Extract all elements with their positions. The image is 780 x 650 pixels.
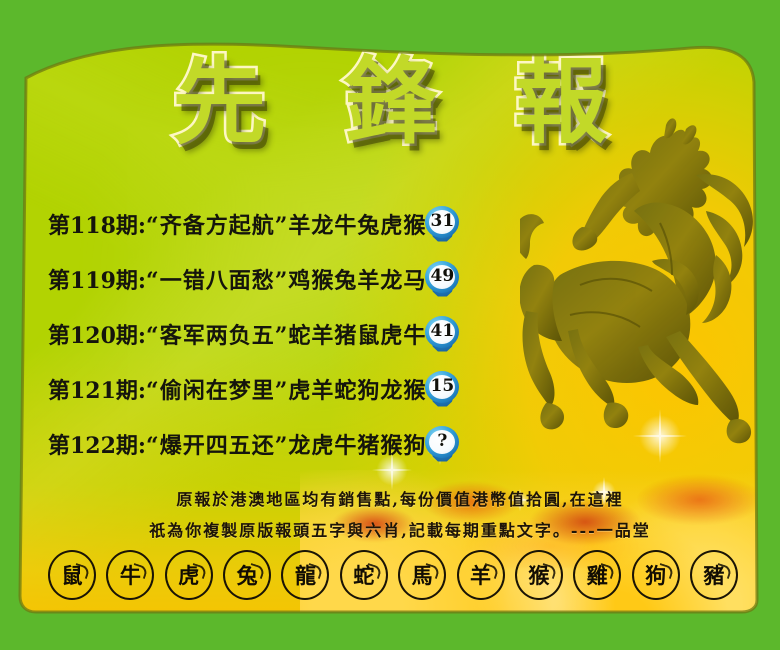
poster-inner-panel: 先 鋒 報 第118期: “齐备方起航” 羊龙牛兔虎猴 31 第119期: “一…: [0, 0, 780, 650]
zodiac-medal-monkey[interactable]: 猴: [515, 550, 563, 600]
issue-zodiacs: 羊龙牛兔虎猴: [288, 208, 426, 240]
ball-number: 41: [429, 320, 455, 344]
issue-zodiacs: 鸡猴兔羊龙马: [288, 263, 426, 295]
lottery-ball-icon[interactable]: ?: [425, 426, 459, 462]
issue-phrase: “一错八面愁”: [146, 263, 288, 295]
zodiac-medal-pig[interactable]: 豬: [690, 550, 738, 600]
page-title: 先 鋒 報: [0, 52, 780, 154]
ball-number: 15: [429, 375, 455, 399]
issue-row[interactable]: 第119期: “一错八面愁” 鸡猴兔羊龙马 49: [48, 251, 548, 306]
zodiac-medal-ox[interactable]: 牛: [106, 550, 154, 600]
issue-number-label: 第118期:: [48, 208, 146, 240]
lottery-ball-icon[interactable]: 49: [425, 261, 459, 297]
zodiac-medal-snake[interactable]: 蛇: [340, 550, 388, 600]
issue-zodiacs: 虎羊蛇狗龙猴: [288, 373, 426, 405]
issue-zodiacs: 蛇羊猪鼠虎牛: [288, 318, 426, 350]
issue-number-label: 第120期:: [48, 318, 146, 350]
zodiac-medal-goat[interactable]: 羊: [457, 550, 505, 600]
zodiac-medal-dog[interactable]: 狗: [632, 550, 680, 600]
zodiac-medal-tiger[interactable]: 虎: [165, 550, 213, 600]
issue-zodiacs: 龙虎牛猪猴狗: [288, 428, 426, 460]
zodiac-medal-rooster[interactable]: 雞: [573, 550, 621, 600]
issue-phrase: “齐备方起航”: [146, 208, 288, 240]
issue-phrase: “客军两负五”: [146, 318, 288, 350]
zodiac-medallion-row: 鼠 牛 虎 兔 龍 蛇 馬 羊 猴 雞 狗 豬: [48, 548, 738, 602]
footer-note-line: 原報於港澳地區均有銷售點,每份價值港幣值拾圓,在這裡: [100, 484, 700, 515]
issue-list: 第118期: “齐备方起航” 羊龙牛兔虎猴 31 第119期: “一错八面愁” …: [48, 196, 548, 471]
footer-note-line: 祇為你複製原版報頭五字與六肖,記載每期重點文字。---一品堂: [100, 515, 700, 546]
zodiac-medal-rabbit[interactable]: 兔: [223, 550, 271, 600]
zodiac-medal-dragon[interactable]: 龍: [281, 550, 329, 600]
zodiac-medal-rat[interactable]: 鼠: [48, 550, 96, 600]
issue-row[interactable]: 第120期: “客军两负五” 蛇羊猪鼠虎牛 41: [48, 306, 548, 361]
ball-number: 31: [429, 210, 455, 234]
issue-row[interactable]: 第122期: “爆开四五还” 龙虎牛猪猴狗 ?: [48, 416, 548, 471]
issue-number-label: 第119期:: [48, 263, 146, 295]
issue-number-label: 第121期:: [48, 373, 146, 405]
galloping-horse-illustration: [520, 115, 770, 485]
lottery-ball-icon[interactable]: 41: [425, 316, 459, 352]
issue-phrase: “爆开四五还”: [146, 428, 288, 460]
issue-number-label: 第122期:: [48, 428, 146, 460]
footer-notes: 原報於港澳地區均有銷售點,每份價值港幣值拾圓,在這裡 祇為你複製原版報頭五字與六…: [100, 484, 700, 546]
ball-number: 49: [429, 265, 455, 289]
issue-phrase: “偷闲在梦里”: [146, 373, 288, 405]
lottery-ball-icon[interactable]: 15: [425, 371, 459, 407]
zodiac-medal-horse[interactable]: 馬: [398, 550, 446, 600]
ball-number: ?: [429, 430, 455, 454]
issue-row[interactable]: 第118期: “齐备方起航” 羊龙牛兔虎猴 31: [48, 196, 548, 251]
lottery-ball-icon[interactable]: 31: [425, 206, 459, 242]
issue-row[interactable]: 第121期: “偷闲在梦里” 虎羊蛇狗龙猴 15: [48, 361, 548, 416]
poster-canvas: 先 鋒 報 第118期: “齐备方起航” 羊龙牛兔虎猴 31 第119期: “一…: [0, 0, 780, 650]
